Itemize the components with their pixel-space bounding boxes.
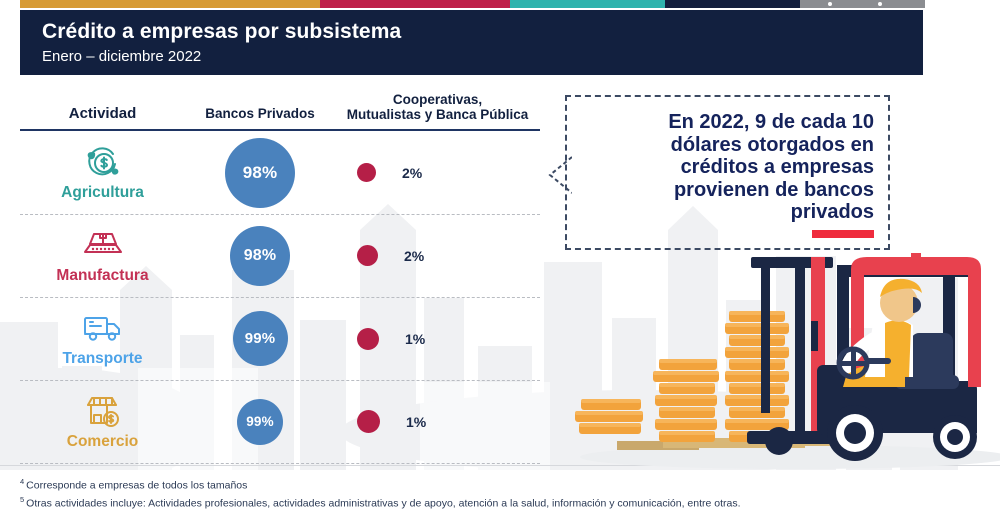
callout-line-5: privados bbox=[581, 201, 874, 224]
column-header-cooperatives-line1: Cooperativas, bbox=[335, 92, 540, 108]
table-row: Agricultura 98% 2% bbox=[20, 131, 540, 214]
forklift-with-coin-stacks-illustration bbox=[555, 245, 1000, 475]
private-banks-bubble: 99% bbox=[237, 399, 283, 445]
private-banks-bubble: 98% bbox=[230, 226, 290, 286]
table-row: Comercio 99% 1% bbox=[20, 380, 540, 463]
topbar-segment-gold bbox=[20, 0, 320, 8]
activity-cell-comercio: Comercio bbox=[20, 392, 185, 451]
private-banks-cell: 98% bbox=[185, 226, 335, 286]
footnote-marker: 4 bbox=[20, 477, 24, 486]
cooperatives-value: 2% bbox=[402, 165, 422, 181]
column-header-cooperatives-line2: Mutualistas y Banca Pública bbox=[335, 107, 540, 123]
cooperatives-cell: 2% bbox=[335, 163, 540, 182]
cooperatives-cell: 2% bbox=[335, 245, 540, 266]
column-header-cooperatives: Cooperativas, Mutualistas y Banca Públic… bbox=[335, 92, 540, 123]
topbar-segment-crimson bbox=[320, 0, 510, 8]
callout-line-4: provienen de bancos bbox=[581, 179, 874, 202]
coin-stack-tall bbox=[725, 311, 789, 442]
box-conveyor-icon bbox=[81, 226, 125, 266]
coin-stack-medium bbox=[653, 359, 719, 442]
cooperatives-dot bbox=[357, 328, 379, 350]
topbar-segment-gray bbox=[800, 0, 925, 8]
header-band: Crédito a empresas por subsistema Enero … bbox=[20, 10, 923, 75]
column-header-activity: Actividad bbox=[20, 105, 185, 123]
activity-label: Agricultura bbox=[61, 184, 144, 202]
activity-cell-manufactura: Manufactura bbox=[20, 226, 185, 285]
footnote-item: 5Otras actividades incluye: Actividades … bbox=[20, 494, 960, 512]
private-banks-cell: 98% bbox=[185, 138, 335, 208]
footnote-text: Corresponde a empresas de todos los tama… bbox=[26, 480, 247, 492]
storefront-icon bbox=[81, 392, 125, 432]
page-subtitle: Enero – diciembre 2022 bbox=[42, 48, 923, 65]
activity-label: Comercio bbox=[67, 433, 139, 451]
callout-line-3: créditos a empresas bbox=[581, 156, 874, 179]
cooperatives-dot bbox=[357, 245, 378, 266]
footnote-text: Otras actividades incluye: Actividades p… bbox=[26, 497, 740, 509]
coin-stack-small bbox=[575, 399, 643, 434]
table-row: Transporte 99% 1% bbox=[20, 297, 540, 380]
private-banks-cell: 99% bbox=[185, 399, 335, 445]
cooperatives-cell: 1% bbox=[335, 328, 540, 350]
callout-text: En 2022, 9 de cada 10 dólares otorgados … bbox=[581, 111, 874, 224]
private-banks-cell: 99% bbox=[185, 311, 335, 366]
topbar-segment-teal bbox=[510, 0, 665, 8]
activity-cell-agricultura: Agricultura bbox=[20, 143, 185, 202]
topbar-left-spacer bbox=[0, 0, 20, 8]
footnote-item: 4Corresponde a empresas de todos los tam… bbox=[20, 476, 960, 494]
footnotes: 4Corresponde a empresas de todos los tam… bbox=[20, 476, 960, 512]
page-title: Crédito a empresas por subsistema bbox=[42, 20, 923, 44]
table-row: Manufactura 98% 2% bbox=[20, 214, 540, 297]
cooperatives-value: 1% bbox=[406, 414, 426, 430]
activity-label: Manufactura bbox=[56, 267, 148, 285]
cooperatives-value: 2% bbox=[404, 248, 424, 264]
money-plant-icon bbox=[82, 143, 124, 183]
callout-line-2: dólares otorgados en bbox=[581, 134, 874, 157]
callout-accent-bar bbox=[812, 230, 874, 238]
activity-label: Transporte bbox=[62, 350, 142, 368]
decorative-top-color-bar bbox=[0, 0, 1000, 8]
private-banks-bubble: 99% bbox=[233, 311, 288, 366]
topbar-dot-1 bbox=[828, 2, 832, 6]
footnote-marker: 5 bbox=[20, 495, 24, 504]
activity-cell-transporte: Transporte bbox=[20, 309, 185, 368]
callout-line-1: En 2022, 9 de cada 10 bbox=[581, 111, 874, 134]
subsystem-credit-table: Actividad Bancos Privados Cooperativas, … bbox=[20, 88, 540, 463]
topbar-dot-2 bbox=[878, 2, 882, 6]
cooperatives-cell: 1% bbox=[335, 410, 540, 433]
topbar-segment-navy bbox=[665, 0, 800, 8]
column-header-private-banks: Bancos Privados bbox=[185, 106, 335, 123]
cooperatives-dot bbox=[357, 163, 376, 182]
infographic-page: Crédito a empresas por subsistema Enero … bbox=[0, 0, 1000, 519]
delivery-truck-icon bbox=[80, 309, 126, 349]
cooperatives-dot bbox=[357, 410, 380, 433]
topbar-right-spacer bbox=[925, 0, 1000, 8]
table-header-row: Actividad Bancos Privados Cooperativas, … bbox=[20, 88, 540, 123]
cooperatives-value: 1% bbox=[405, 331, 425, 347]
callout-box: En 2022, 9 de cada 10 dólares otorgados … bbox=[565, 95, 890, 250]
private-banks-bubble: 98% bbox=[225, 138, 295, 208]
